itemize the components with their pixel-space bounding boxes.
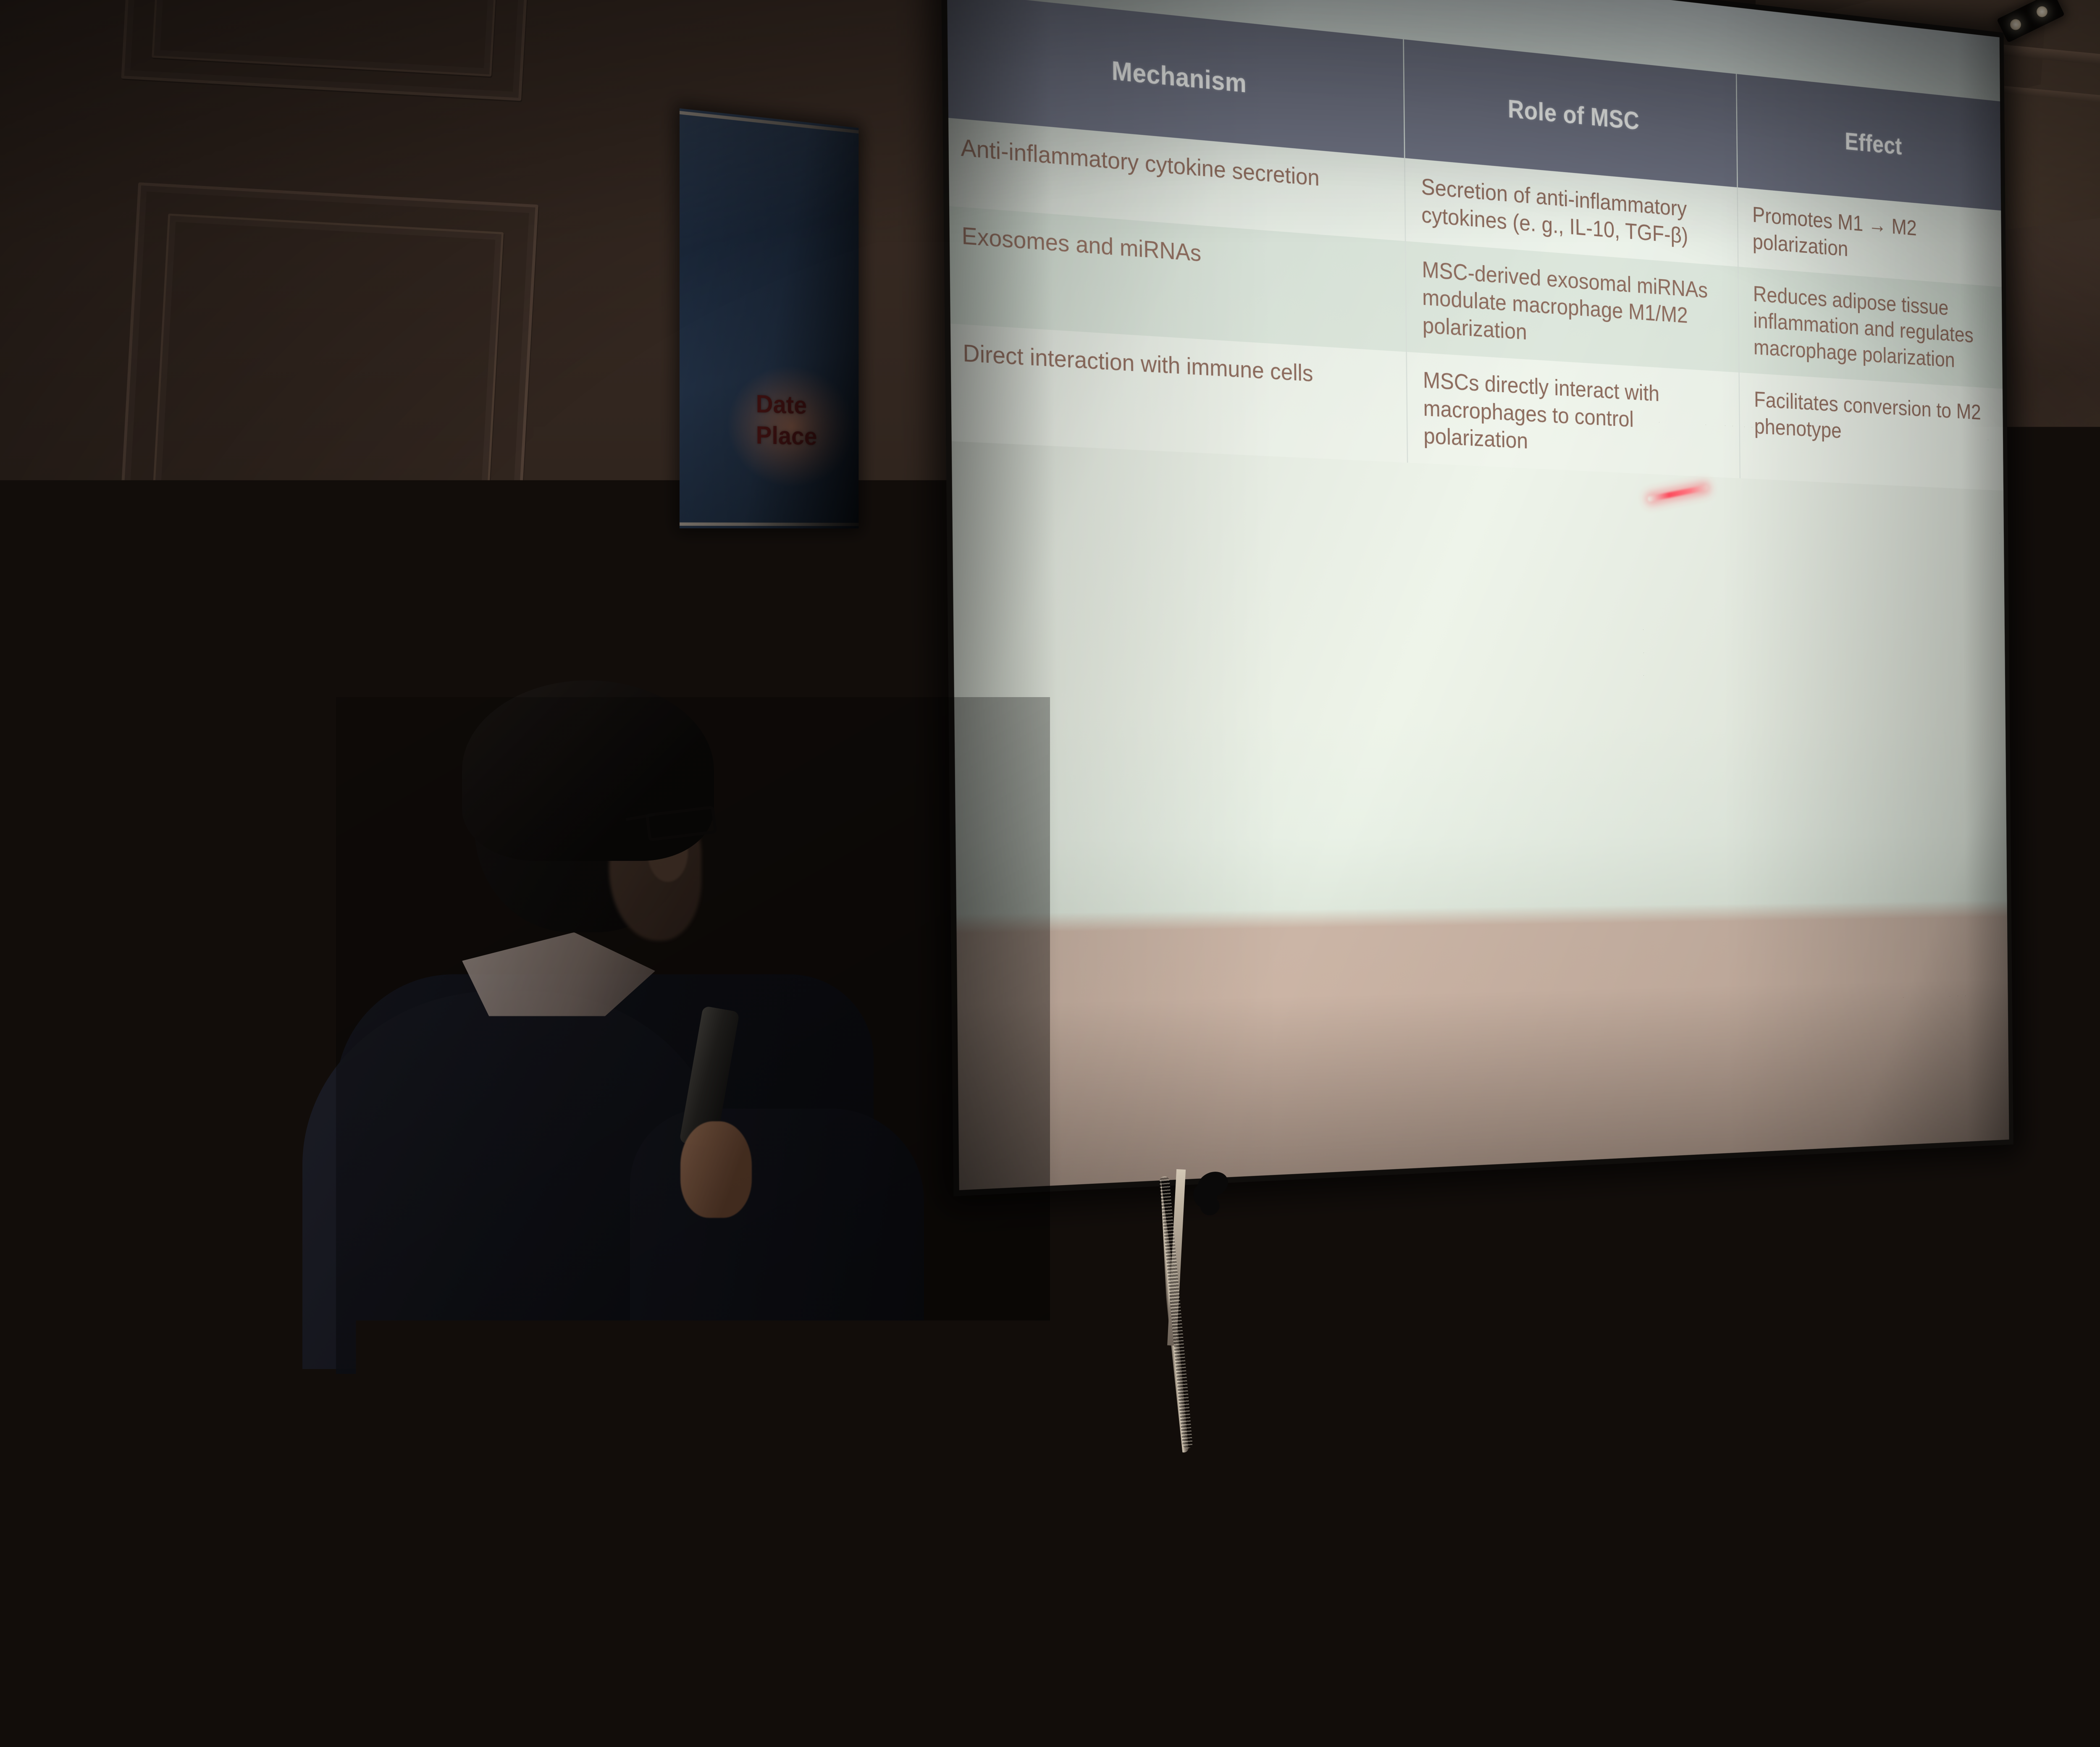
presenter-shading [336,697,1050,1747]
column-header-mechanism-label: Mechanism [1111,55,1247,99]
side-poster: Date Place [680,108,858,528]
cell-role: MSCs directly interact with macrophages … [1407,352,1740,478]
projection-screen[interactable]: Mechanism Role of MSC Effect Anti-inflam… [941,0,2013,1196]
podium-wood-grain [1075,1445,1638,1747]
column-header-role-of-msc-label: Role of MSC [1508,94,1640,135]
column-header-effect-label: Effect [1845,127,1902,160]
podium [1075,1445,1638,1747]
cell-effect: Reduces adipose tissue inflammation and … [1738,267,2007,389]
poster-shading [680,108,858,528]
slide-content: Mechanism Role of MSC Effect Anti-inflam… [941,0,2011,915]
presenter [336,697,1050,1747]
cell-effect: Facilitates conversion to M2 phenotype [1739,372,2008,491]
wall-panel-mid-left-inner [147,213,504,605]
presentation-room-scene: Mechanism Role of MSC Effect Anti-inflam… [0,0,2100,1747]
